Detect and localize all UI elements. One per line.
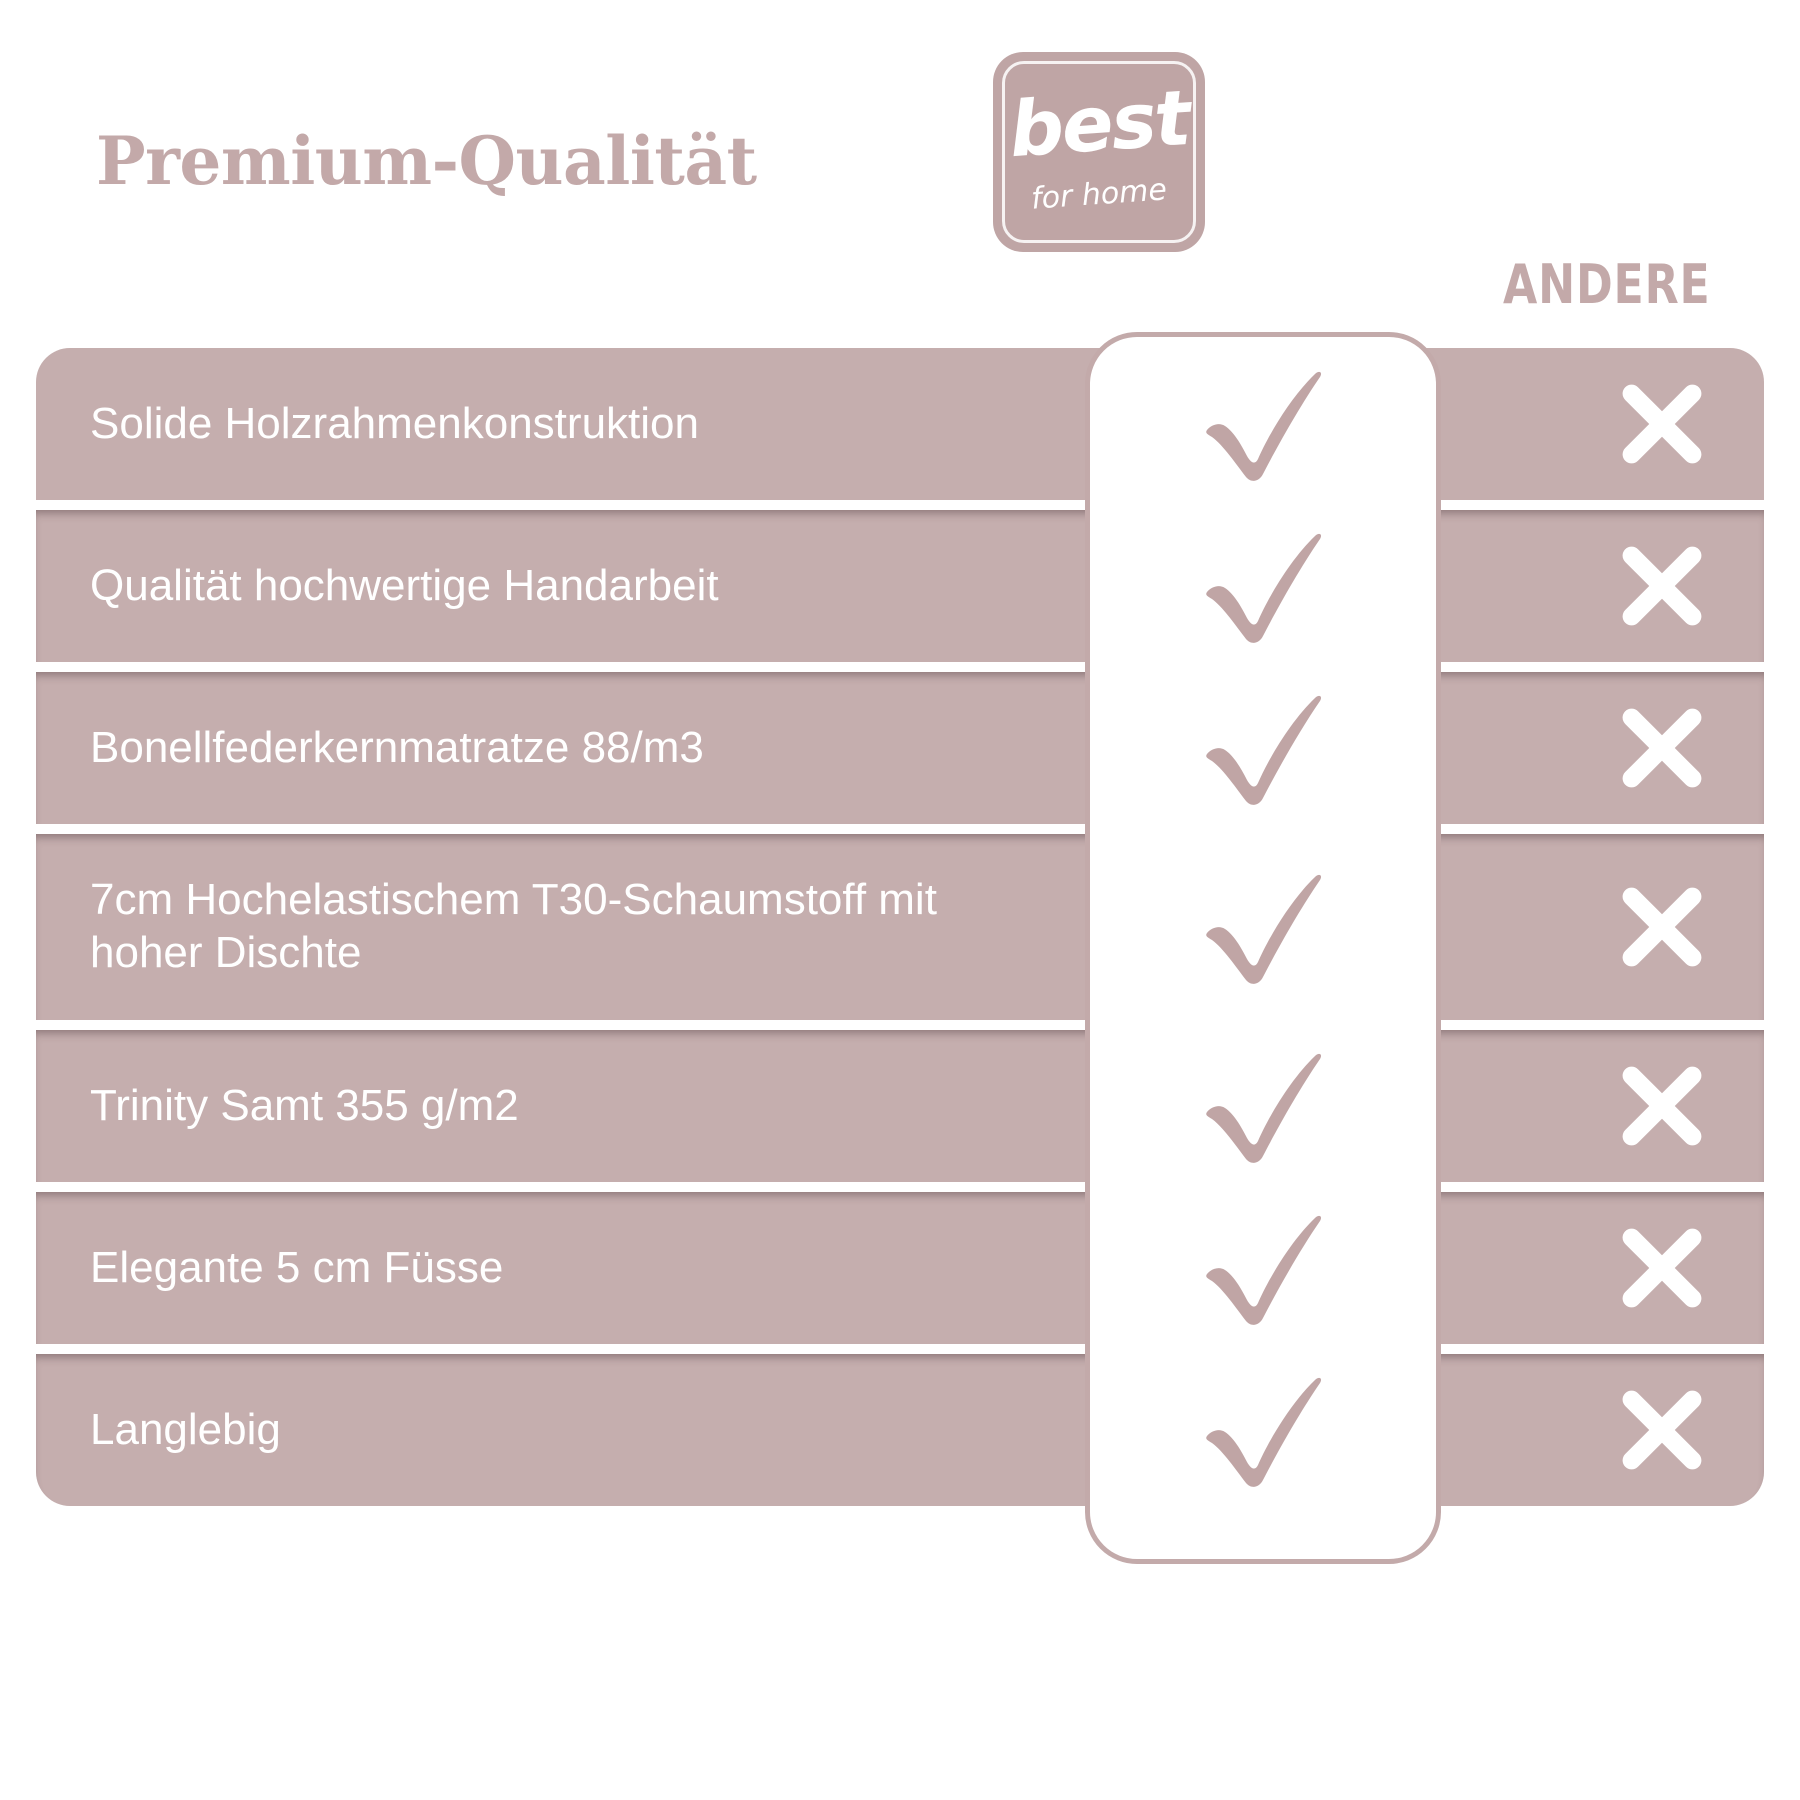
feature-label: Solide Holzrahmenkonstruktion — [90, 398, 990, 450]
feature-label: Langlebig — [90, 1404, 990, 1456]
feature-label: Trinity Samt 355 g/m2 — [90, 1080, 990, 1132]
feature-label: 7cm Hochelastischem T30-Schaumstoff mit … — [90, 874, 990, 980]
table-row: Trinity Samt 355 g/m2 — [36, 1030, 1764, 1182]
feature-label: Elegante 5 cm Füsse — [90, 1242, 990, 1294]
table-row: Solide Holzrahmenkonstruktion — [36, 348, 1764, 500]
feature-label: Qualität hochwertige Handarbeit — [90, 560, 990, 612]
table-row: 7cm Hochelastischem T30-Schaumstoff mit … — [36, 834, 1764, 1020]
table-row: Elegante 5 cm Füsse — [36, 1192, 1764, 1344]
cross-icon — [1614, 700, 1710, 796]
cross-icon — [1614, 1058, 1710, 1154]
cross-icon — [1614, 879, 1710, 975]
best-for-home-column-highlight — [1085, 332, 1441, 1564]
table-row: Langlebig — [36, 1354, 1764, 1506]
cross-icon — [1614, 538, 1710, 634]
feature-label: Bonellfederkernmatratze 88/m3 — [90, 722, 990, 774]
cross-icon — [1614, 1220, 1710, 1316]
cross-icon — [1614, 1382, 1710, 1478]
cross-icon — [1614, 376, 1710, 472]
infographic-canvas: Premium-Qualität best for home ANDERE So… — [0, 0, 1800, 1800]
comparison-rows: Solide HolzrahmenkonstruktionQualität ho… — [0, 0, 1800, 1800]
table-row: Bonellfederkernmatratze 88/m3 — [36, 672, 1764, 824]
table-row: Qualität hochwertige Handarbeit — [36, 510, 1764, 662]
